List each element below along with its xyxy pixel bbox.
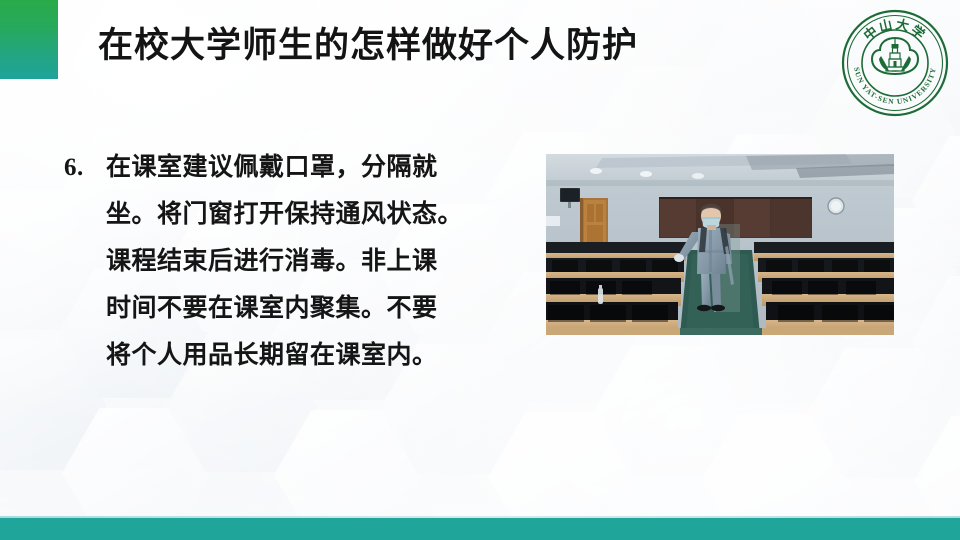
- body-line-5: 将个人用品长期留在课室内。: [64, 332, 534, 379]
- seal-year: 1924: [892, 69, 899, 73]
- list-item-number: 6.: [64, 144, 106, 191]
- accent-corner-block: [0, 0, 58, 79]
- lecture-hall-disinfection-photo: [546, 154, 894, 335]
- presentation-slide: 在校大学师生的怎样做好个人防护: [0, 0, 960, 540]
- body-line-text: 坐。将门窗打开保持通风状态。: [106, 191, 463, 238]
- page-title: 在校大学师生的怎样做好个人防护: [98, 17, 638, 68]
- body-line-3: 课程结束后进行消毒。非上课: [64, 238, 534, 285]
- body-line-text: 时间不要在课室内聚集。不要: [106, 285, 438, 332]
- body-line-1: 6. 在课室建议佩戴口罩，分隔就: [64, 144, 534, 191]
- body-line-4: 时间不要在课室内聚集。不要: [64, 285, 534, 332]
- sun-yat-sen-university-seal: 中山大学 SUN YAT-SEN UNIVERSITY 1924: [840, 8, 950, 94]
- body-line-text: 课程结束后进行消毒。非上课: [106, 238, 438, 285]
- body-line-2: 坐。将门窗打开保持通风状态。: [64, 191, 534, 238]
- bottom-teal-bar: [0, 518, 960, 540]
- body-line-text: 在课室建议佩戴口罩，分隔就: [106, 144, 438, 191]
- body-text-block: 6. 在课室建议佩戴口罩，分隔就 坐。将门窗打开保持通风状态。 课程结束后进行消…: [64, 144, 534, 379]
- body-line-text: 将个人用品长期留在课室内。: [106, 332, 438, 379]
